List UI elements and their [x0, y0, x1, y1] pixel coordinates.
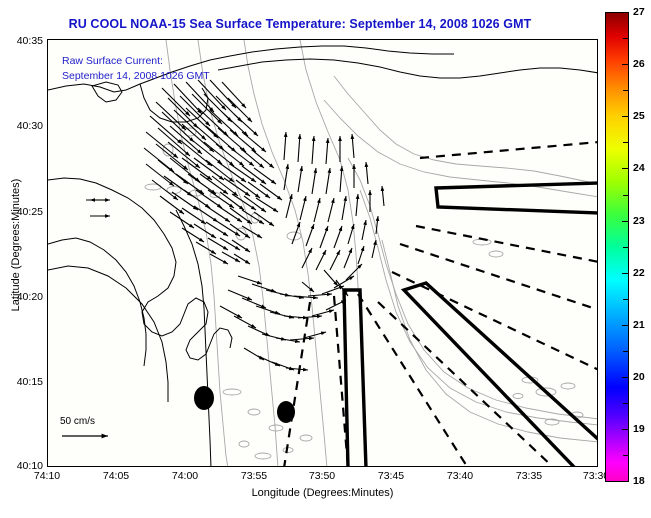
map-plot-area[interactable]: Raw Surface Current: September 14, 2008 … [47, 39, 598, 467]
radar-footprint-lanes [344, 183, 598, 467]
y-tick-label: 40:30 [17, 120, 43, 132]
vector-scale-arrow-icon [60, 429, 120, 443]
colorbar-tick-label: 23 [633, 215, 645, 227]
sst-map-figure: RU COOL NOAA-15 Sea Surface Temperature:… [0, 0, 651, 518]
colorbar-tick-label: 21 [633, 319, 645, 331]
y-axis-label: Latitude (Degrees:Minutes) [10, 145, 22, 345]
vector-scale-key: 50 cm/s [60, 416, 120, 448]
station-marker [277, 401, 295, 423]
x-tick-label: 73:45 [378, 470, 404, 482]
x-axis-label: Longitude (Degrees:Minutes) [47, 487, 598, 499]
colorbar-tick-label: 20 [633, 371, 645, 383]
annotation-line-1: Raw Surface Current: [62, 54, 210, 69]
colorbar-tick-label: 25 [633, 110, 645, 122]
map-graphics [48, 40, 598, 467]
colorbar-tick-label: 26 [633, 58, 645, 70]
x-tick-label: 73:35 [516, 470, 542, 482]
vector-scale-label: 50 cm/s [60, 416, 120, 427]
colorbar-tick-label: 18 [633, 475, 645, 487]
figure-title: RU COOL NOAA-15 Sea Surface Temperature:… [0, 17, 600, 31]
annotation-line-2: September 14, 2008 1026 GMT [62, 69, 210, 84]
y-tick-label: 40:15 [17, 376, 43, 388]
colorbar-tick-label: 19 [633, 423, 645, 435]
x-tick-label: 73:55 [241, 470, 267, 482]
colorbar-tick-label: 22 [633, 267, 645, 279]
x-tick-label: 73:40 [447, 470, 473, 482]
y-tick-label: 40:10 [17, 460, 43, 472]
colorbar-tick-label: 27 [633, 6, 645, 18]
sst-contour-layer [166, 40, 598, 467]
x-tick-label: 74:05 [103, 470, 129, 482]
x-tick-label: 74:00 [172, 470, 198, 482]
x-tick-label: 73:50 [309, 470, 335, 482]
map-annotation: Raw Surface Current: September 14, 2008 … [62, 54, 210, 84]
radial-beam-lines [284, 142, 598, 467]
y-tick-label: 40:35 [17, 35, 43, 47]
station-marker [194, 386, 214, 410]
colorbar-tick-label: 24 [633, 162, 645, 174]
surface-current-vectors [86, 80, 384, 370]
